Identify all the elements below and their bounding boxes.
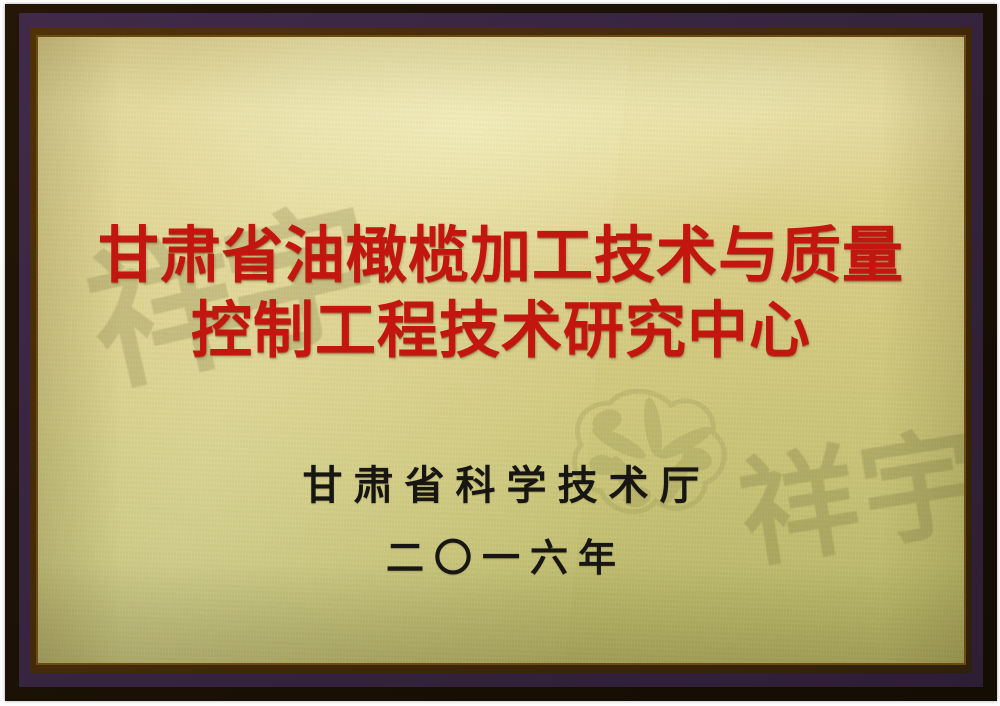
gold-plate: 祥宇 祥宇 <box>38 37 964 663</box>
plaque-screenshot: 祥宇 祥宇 <box>0 0 1000 706</box>
issue-year: 二〇一六年 <box>38 527 964 582</box>
title-line-1: 甘肃省油橄榄加工技术与质量 <box>38 225 964 286</box>
title-line-2: 控制工程技术研究中心 <box>38 300 964 361</box>
issuing-authority: 甘肃省科学技术厅 <box>38 453 964 511</box>
